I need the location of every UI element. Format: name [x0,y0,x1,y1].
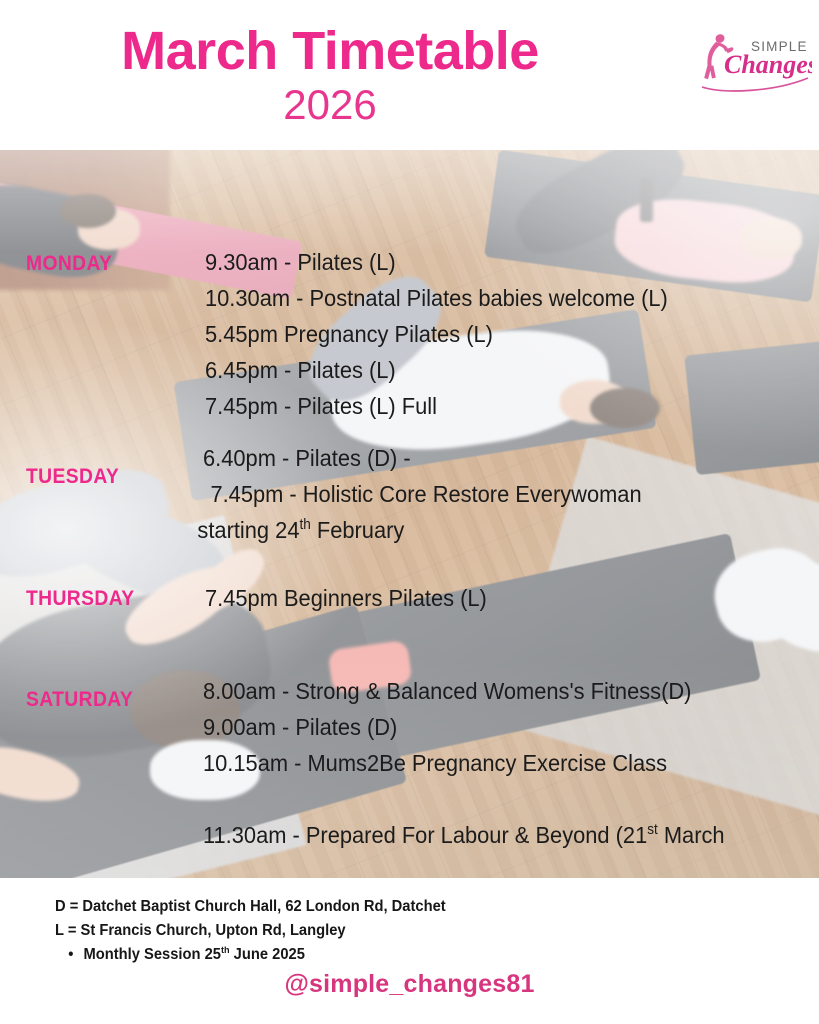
class-entry: 7.45pm Beginners Pilates (L) [205,580,487,616]
class-entry: 7.45pm - Holistic Core Restore Everywoma… [203,476,642,512]
class-entry: 8.00am - Strong & Balanced Womens's Fitn… [203,673,725,709]
class-entry: 7.45pm - Pilates (L) Full [205,388,668,424]
class-entry-text-pre: 11.30am - Prepared For Labour & Beyond (… [203,822,647,848]
title-block: March Timetable 2026 [0,22,660,128]
poster-footer: D = Datchet Baptist Church Hall, 62 Lond… [0,878,819,1024]
class-entry: 9.30am - Pilates (L) [205,244,668,280]
day-label-saturday: SATURDAY [26,688,133,712]
logo-word-changes: Changes [724,50,812,79]
ordinal-suffix: st [647,822,658,838]
monthly-session-pre: Monthly Session 25 [84,946,221,963]
day-entries-monday: 9.30am - Pilates (L) 10.30am - Postnatal… [205,244,668,424]
class-entry: 5.45pm Pregnancy Pilates (L) [205,316,668,352]
day-label-thursday: THURSDAY [26,587,135,611]
class-entry: 6.45pm - Pilates (L) [205,352,668,388]
class-entry-text-post: February [311,517,405,543]
class-entry: 9.00am - Pilates (D) [203,709,725,745]
class-entry: 11.30am - Prepared For Labour & Beyond (… [203,817,725,853]
class-entry: 6.40pm - Pilates (D) - [203,440,642,476]
legend-line-l: L = St Francis Church, Upton Rd, Langley [55,919,446,943]
venue-legend: D = Datchet Baptist Church Hall, 62 Lond… [55,895,446,967]
poster-header: March Timetable 2026 SIMPLE Cha [0,0,819,150]
legend-line-d: D = Datchet Baptist Church Hall, 62 Lond… [55,895,446,919]
day-entries-tuesday: 6.40pm - Pilates (D) - 7.45pm - Holistic… [203,440,642,548]
schedule: MONDAY 9.30am - Pilates (L) 10.30am - Po… [0,150,819,878]
class-entry-text-post: March [658,822,725,848]
ordinal-suffix: th [221,945,230,956]
ordinal-suffix: th [299,517,310,533]
class-entry-continuation: starting 24th February [197,512,641,548]
simple-changes-logo: SIMPLE Changes [690,28,812,94]
class-entry-text-pre: starting 24 [197,517,299,543]
day-entries-saturday: 8.00am - Strong & Balanced Womens's Fitn… [203,673,725,853]
page-year: 2026 [0,82,660,128]
timetable-poster: March Timetable 2026 SIMPLE Cha [0,0,819,1024]
day-entries-thursday: 7.45pm Beginners Pilates (L) [205,580,487,616]
class-entry: 10.15am - Mums2Be Pregnancy Exercise Cla… [203,745,725,781]
legend-line-monthly: •Monthly Session 25th June 2025 [55,943,446,967]
class-entry: 10.30am - Postnatal Pilates babies welco… [205,280,668,316]
monthly-session-post: June 2025 [230,946,305,963]
logo-swoosh [702,78,808,91]
class-entry-spacer [203,781,725,817]
logo-svg: SIMPLE Changes [690,28,812,94]
day-label-monday: MONDAY [26,252,112,276]
social-handle[interactable]: @simple_changes81 [0,970,819,999]
day-label-tuesday: TUESDAY [26,465,119,489]
page-title: March Timetable [0,22,660,80]
bullet-icon: • [68,943,73,967]
